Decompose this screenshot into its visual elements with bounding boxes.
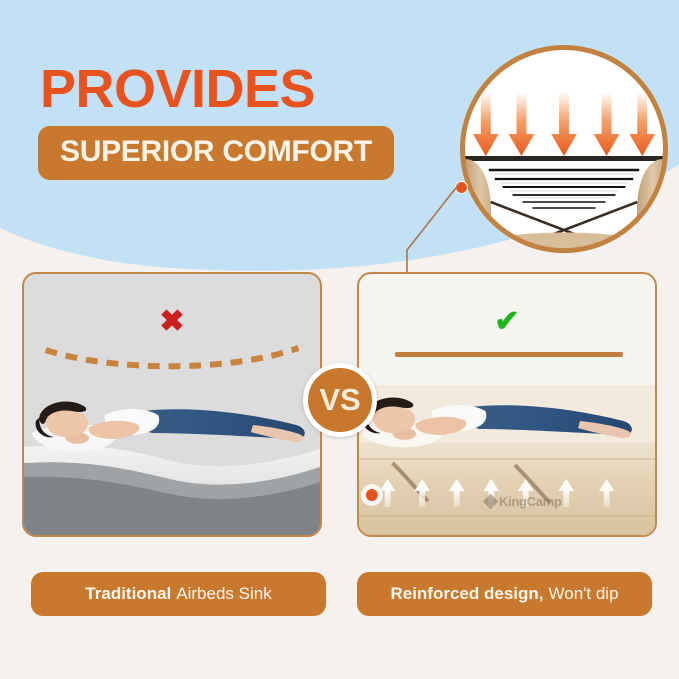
caption-reinforced-rest: Won't dip	[549, 584, 619, 604]
panel-traditional: ✖	[22, 272, 322, 537]
panel-reinforced: ✔	[357, 272, 657, 537]
vs-badge: VS	[303, 363, 377, 437]
airbed-interior-structure	[465, 156, 663, 253]
diamond-icon	[483, 494, 499, 510]
caption-traditional-rest: Airbeds Sink	[176, 584, 271, 604]
sag-indicator-dashed-line	[24, 342, 320, 378]
callout-circle-reinforced-interior	[460, 45, 668, 253]
brand-logo: KingCamp	[485, 494, 562, 509]
caption-reinforced-bold: Reinforced design,	[390, 584, 543, 604]
caption-reinforced: Reinforced design, Won't dip	[357, 572, 652, 616]
caption-traditional: Traditional Airbeds Sink	[31, 572, 326, 616]
subtitle-pill: SUPERIOR COMFORT	[38, 126, 394, 180]
brand-name: KingCamp	[499, 494, 562, 509]
infographic-canvas: PROVIDES SUPERIOR COMFORT	[0, 0, 679, 679]
page-title: PROVIDES	[40, 62, 315, 116]
pressure-arrows-down-icon	[465, 90, 663, 160]
photo-woman-on-reinforced-airbed	[359, 385, 655, 535]
check-icon: ✔	[494, 304, 519, 339]
caption-traditional-bold: Traditional	[85, 584, 171, 604]
cross-icon: ✖	[159, 304, 184, 339]
flat-indicator-solid-line	[395, 352, 623, 357]
photo-woman-on-sagging-airbed	[24, 385, 320, 535]
callout-anchor-dot	[455, 181, 468, 194]
